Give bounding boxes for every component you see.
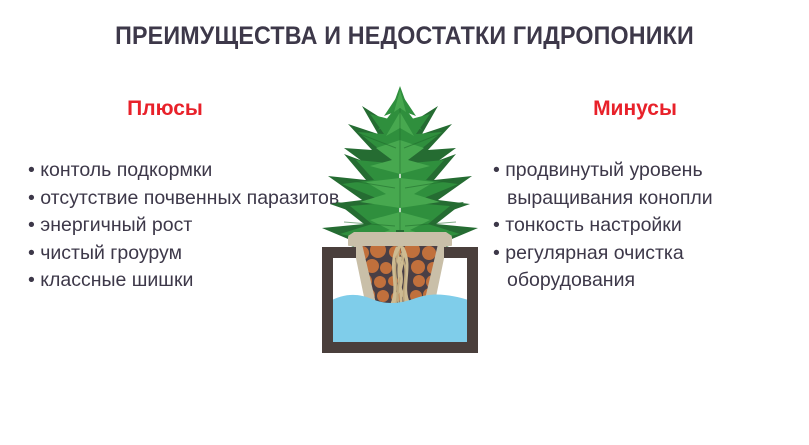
list-item: тонкость настройки [493, 212, 803, 240]
cons-heading: Минусы [470, 97, 800, 121]
hydroponics-illustration [300, 78, 500, 363]
list-item: регулярная очистка оборудования [493, 240, 803, 295]
water-reservoir-icon [328, 294, 472, 350]
infographic-canvas: ПРЕИМУЩЕСТВА И НЕДОСТАТКИ ГИДРОПОНИКИ Пл… [0, 0, 809, 445]
cons-list: продвинутый уровень выращивания конопли … [493, 157, 803, 295]
page-title: ПРЕИМУЩЕСТВА И НЕДОСТАТКИ ГИДРОПОНИКИ [28, 22, 780, 51]
pros-heading: Плюсы [0, 97, 330, 121]
list-item: продвинутый уровень выращивания конопли [493, 157, 803, 212]
